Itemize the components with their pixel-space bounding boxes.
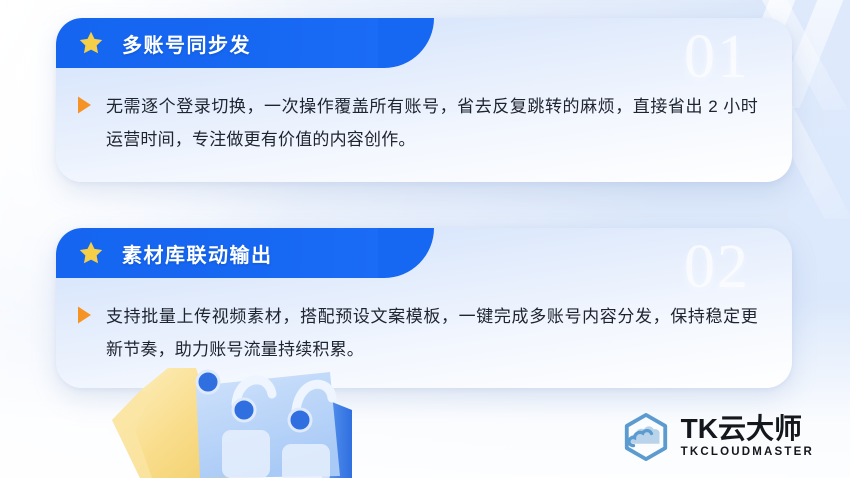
shopping-bag-and-star-illustration <box>0 368 400 478</box>
logo-text-block: TK云大师 TKCLOUDMASTER <box>681 414 814 459</box>
star-icon <box>78 240 104 266</box>
logo-subtitle: TKCLOUDMASTER <box>681 446 814 460</box>
card-description-1: 无需逐个登录切换，一次操作覆盖所有账号，省去反复跳转的麻烦，直接省出 2 小时运… <box>106 90 758 156</box>
star-icon <box>78 30 104 56</box>
card-title-2: 素材库联动输出 <box>122 239 273 268</box>
card-body-1: 无需逐个登录切换，一次操作覆盖所有账号，省去反复跳转的麻烦，直接省出 2 小时运… <box>56 68 792 182</box>
feature-card-1: 01 多账号同步发 无需逐个登录切换，一次操作覆盖所有账号，省去反复跳转的麻烦，… <box>56 18 792 182</box>
brand-logo: TK云大师 TKCLOUDMASTER <box>621 412 814 462</box>
card-header-1: 多账号同步发 <box>56 18 378 68</box>
triangle-right-icon <box>74 94 94 116</box>
card-title-1: 多账号同步发 <box>122 29 251 58</box>
card-header-2: 素材库联动输出 <box>56 228 378 278</box>
card-description-2: 支持批量上传视频素材，搭配预设文案模板，一键完成多账号内容分发，保持稳定更新节奏… <box>106 300 758 366</box>
triangle-right-icon <box>74 304 94 326</box>
hexagon-cloud-icon <box>621 412 671 462</box>
logo-name: TK云大师 <box>681 414 814 443</box>
feature-card-2: 02 素材库联动输出 支持批量上传视频素材，搭配预设文案模板，一键完成多账号内容… <box>56 228 792 388</box>
